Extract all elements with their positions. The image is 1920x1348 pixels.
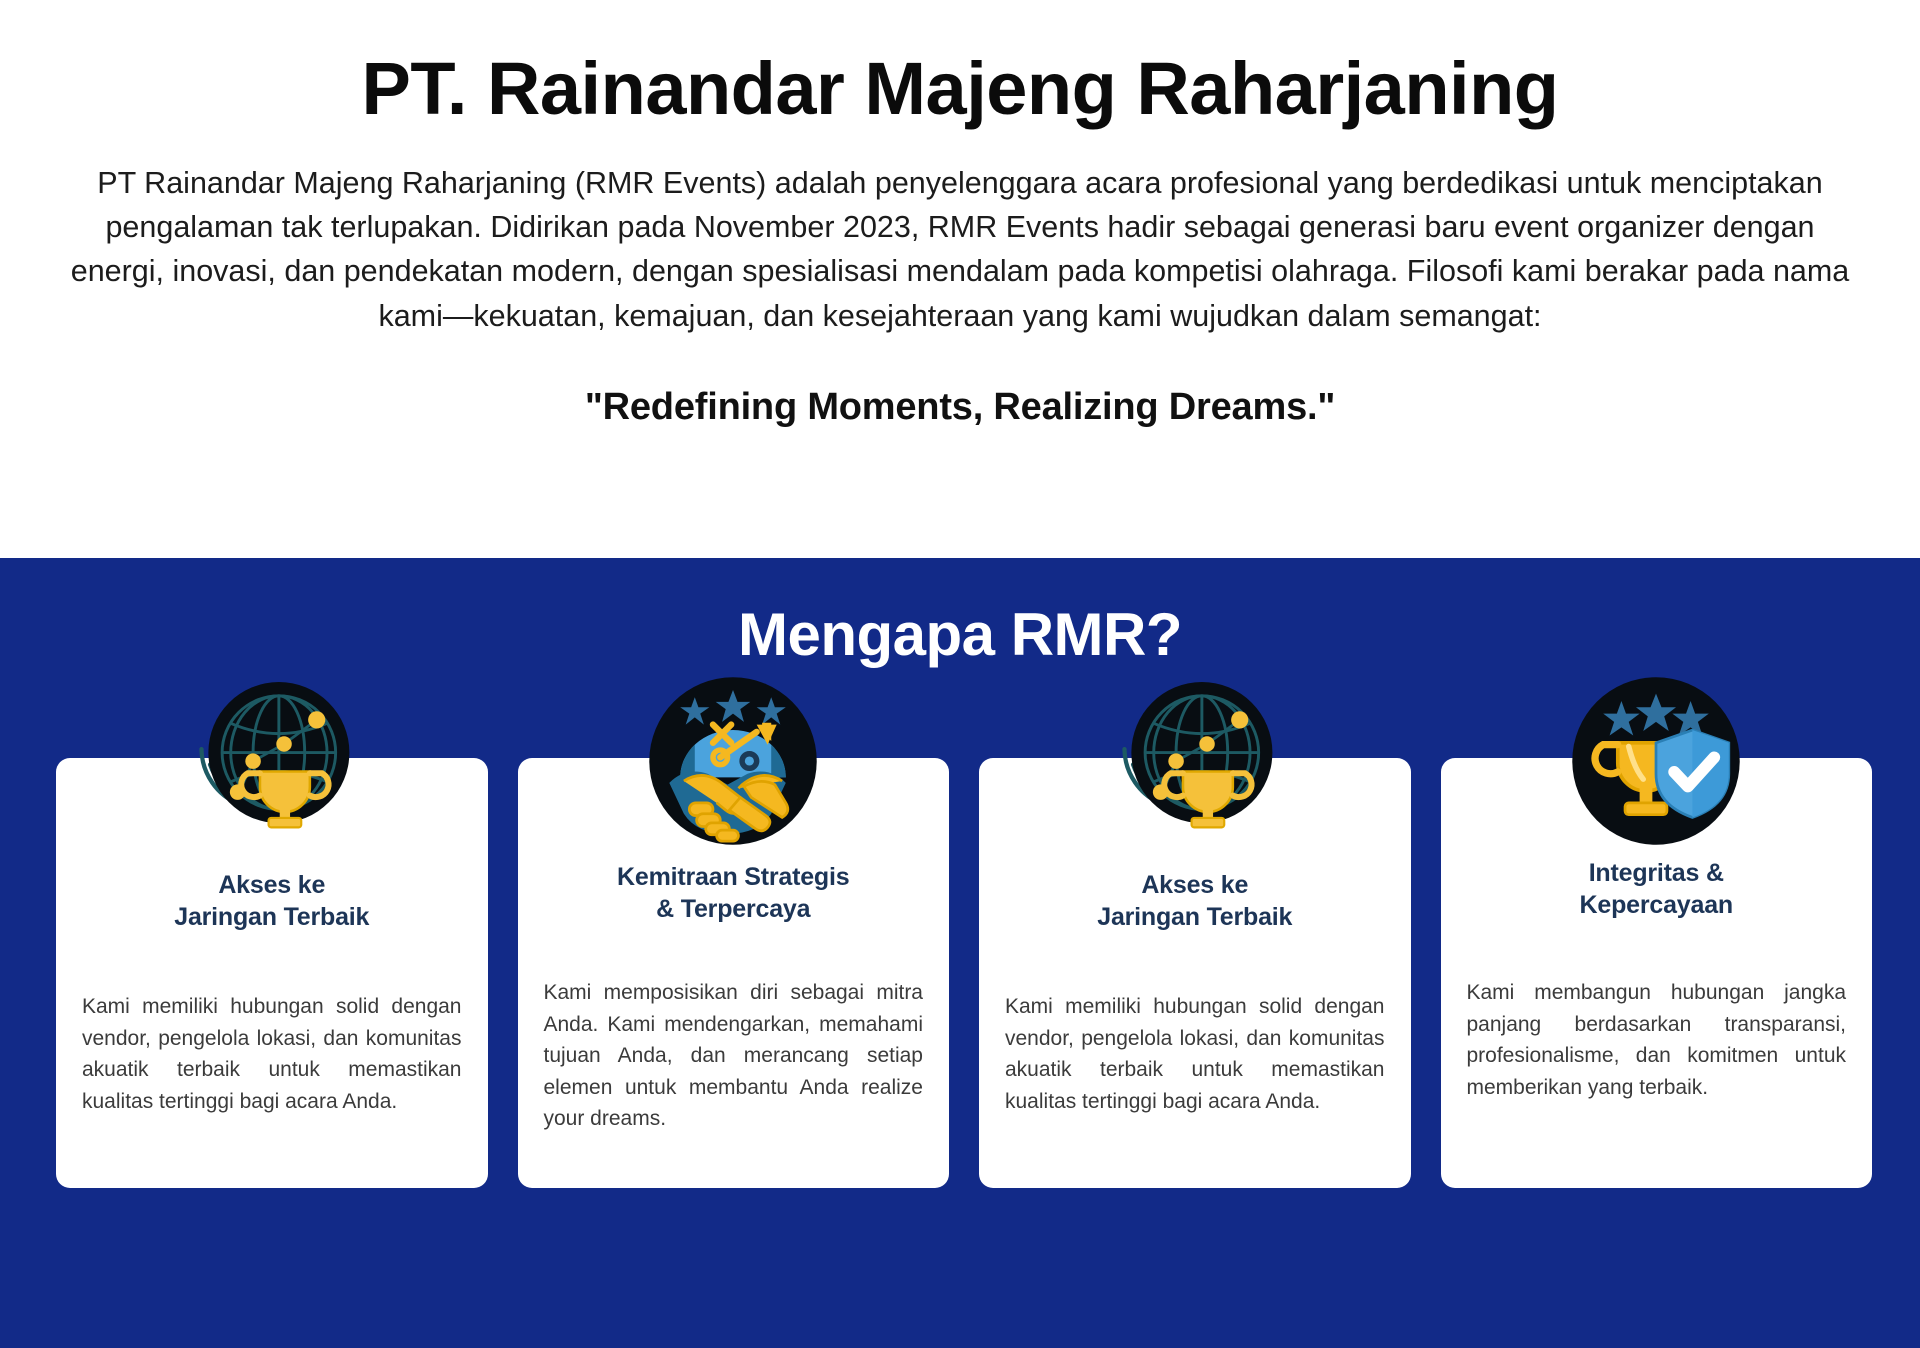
feature-card-title: Integritas & Kepercayaan: [1463, 858, 1851, 921]
globe-network-trophy-icon: [56, 670, 488, 842]
why-rmr-section: Mengapa RMR?: [0, 558, 1920, 1348]
globe-network-trophy-icon-svg: [1109, 670, 1281, 842]
feature-card-body: Kami memiliki hubungan solid dengan vend…: [1001, 991, 1389, 1117]
company-tagline: "Redefining Moments, Realizing Dreams.": [0, 386, 1920, 429]
trophy-shield-check-icon-svg: [1565, 670, 1747, 852]
feature-card[interactable]: Kemitraan Strategis & Terpercaya Kami me…: [518, 758, 950, 1188]
trophy-shield-check-icon: [1441, 670, 1873, 852]
feature-card[interactable]: Integritas & Kepercayaan Kami membangun …: [1441, 758, 1873, 1188]
feature-card-list: Akses ke Jaringan Terbaik Kami memiliki …: [56, 758, 1872, 1188]
infographic-page: PT. Rainandar Majeng Raharjaning PT Rain…: [0, 0, 1920, 1348]
company-description: PT Rainandar Majeng Raharjaning (RMR Eve…: [65, 161, 1855, 338]
feature-card-title: Akses ke Jaringan Terbaik: [1001, 870, 1389, 933]
feature-card-title: Akses ke Jaringan Terbaik: [78, 870, 466, 933]
globe-network-trophy-icon-svg: [186, 670, 358, 842]
feature-card-body: Kami memiliki hubungan solid dengan vend…: [78, 991, 466, 1117]
feature-card-body: Kami membangun hubungan jangka panjang b…: [1463, 977, 1851, 1103]
feature-card[interactable]: Akses ke Jaringan Terbaik Kami memiliki …: [979, 758, 1411, 1188]
feature-card-body: Kami memposisikan diri sebagai mitra And…: [540, 977, 928, 1135]
handshake-strategy-icon-svg: [642, 670, 824, 852]
feature-card-title: Kemitraan Strategis & Terpercaya: [540, 862, 928, 925]
page-title: PT. Rainandar Majeng Raharjaning: [0, 48, 1920, 131]
feature-card[interactable]: Akses ke Jaringan Terbaik Kami memiliki …: [56, 758, 488, 1188]
hero-section: PT. Rainandar Majeng Raharjaning PT Rain…: [0, 0, 1920, 558]
handshake-strategy-icon: [518, 670, 950, 852]
why-rmr-heading: Mengapa RMR?: [0, 558, 1920, 669]
globe-network-trophy-icon: [979, 670, 1411, 842]
